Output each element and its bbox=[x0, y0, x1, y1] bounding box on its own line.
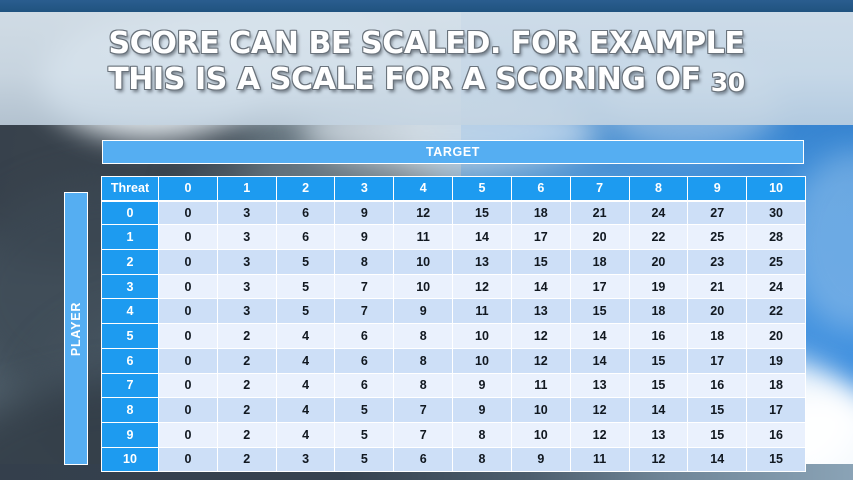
cell-r1-c8: 22 bbox=[630, 225, 689, 250]
cell-r2-c5: 13 bbox=[453, 250, 512, 275]
cell-r2-c2: 5 bbox=[277, 250, 336, 275]
table-row: 1036911141720222528 bbox=[101, 225, 806, 250]
column-header-6: 6 bbox=[512, 176, 571, 201]
slide-canvas: SCORE CAN BE SCALED. FOR EXAMPLE THIS IS… bbox=[0, 0, 853, 480]
row-header-5: 5 bbox=[101, 324, 159, 349]
cell-r3-c10: 24 bbox=[747, 275, 806, 300]
column-header-9: 9 bbox=[688, 176, 747, 201]
cell-r7-c7: 13 bbox=[571, 374, 630, 399]
player-axis-label: PLAYER bbox=[69, 301, 83, 355]
cell-r1-c9: 25 bbox=[688, 225, 747, 250]
cell-r4-c6: 13 bbox=[512, 299, 571, 324]
cell-r9-c10: 16 bbox=[747, 423, 806, 448]
cell-r10-c3: 5 bbox=[335, 448, 394, 473]
table-row: 70246891113151618 bbox=[101, 374, 806, 399]
cell-r5-c2: 4 bbox=[277, 324, 336, 349]
score-matrix: Threat 0 1 2 3 4 5 6 7 8 9 10 0036912151… bbox=[101, 176, 806, 472]
title-line-1: SCORE CAN BE SCALED. FOR EXAMPLE bbox=[0, 26, 853, 62]
cell-r10-c0: 0 bbox=[159, 448, 218, 473]
cell-r3-c1: 3 bbox=[218, 275, 277, 300]
cell-r9-c7: 12 bbox=[571, 423, 630, 448]
top-accent-band bbox=[0, 0, 853, 12]
cell-r4-c1: 3 bbox=[218, 299, 277, 324]
column-header-1: 1 bbox=[218, 176, 277, 201]
table-row: 2035810131518202325 bbox=[101, 250, 806, 275]
cell-r9-c9: 15 bbox=[688, 423, 747, 448]
cell-r3-c3: 7 bbox=[335, 275, 394, 300]
table-head: Threat 0 1 2 3 4 5 6 7 8 9 10 bbox=[101, 176, 806, 201]
cell-r8-c2: 4 bbox=[277, 398, 336, 423]
cell-r4-c4: 9 bbox=[394, 299, 453, 324]
column-header-2: 2 bbox=[277, 176, 336, 201]
cell-r7-c5: 9 bbox=[453, 374, 512, 399]
cell-r5-c5: 10 bbox=[453, 324, 512, 349]
cell-r8-c0: 0 bbox=[159, 398, 218, 423]
cell-r0-c9: 27 bbox=[688, 201, 747, 226]
row-header-1: 1 bbox=[101, 225, 159, 250]
cell-r8-c1: 2 bbox=[218, 398, 277, 423]
cell-r4-c2: 5 bbox=[277, 299, 336, 324]
cell-r4-c3: 7 bbox=[335, 299, 394, 324]
cell-r4-c0: 0 bbox=[159, 299, 218, 324]
cell-r0-c2: 6 bbox=[277, 201, 336, 226]
cell-r0-c10: 30 bbox=[747, 201, 806, 226]
cell-r0-c7: 21 bbox=[571, 201, 630, 226]
table-row: 80245791012141517 bbox=[101, 398, 806, 423]
cell-r2-c7: 18 bbox=[571, 250, 630, 275]
target-axis-bar: TARGET bbox=[102, 140, 804, 164]
cell-r6-c8: 15 bbox=[630, 349, 689, 374]
cell-r1-c7: 20 bbox=[571, 225, 630, 250]
cell-r6-c6: 12 bbox=[512, 349, 571, 374]
cell-r7-c3: 6 bbox=[335, 374, 394, 399]
cell-r10-c8: 12 bbox=[630, 448, 689, 473]
cell-r6-c0: 0 bbox=[159, 349, 218, 374]
row-header-4: 4 bbox=[101, 299, 159, 324]
title-scoring-value: 30 bbox=[711, 68, 745, 97]
table-header-row: Threat 0 1 2 3 4 5 6 7 8 9 10 bbox=[101, 176, 806, 201]
player-axis-bar: PLAYER bbox=[64, 192, 88, 465]
row-header-9: 9 bbox=[101, 423, 159, 448]
cell-r2-c4: 10 bbox=[394, 250, 453, 275]
column-header-3: 3 bbox=[335, 176, 394, 201]
cell-r2-c1: 3 bbox=[218, 250, 277, 275]
cell-r8-c3: 5 bbox=[335, 398, 394, 423]
cell-r9-c8: 13 bbox=[630, 423, 689, 448]
row-header-6: 6 bbox=[101, 349, 159, 374]
table-body: 0036912151821242730103691114172022252820… bbox=[101, 201, 806, 473]
cell-r6-c7: 14 bbox=[571, 349, 630, 374]
cell-r7-c4: 8 bbox=[394, 374, 453, 399]
cell-r9-c3: 5 bbox=[335, 423, 394, 448]
cell-r5-c8: 16 bbox=[630, 324, 689, 349]
column-header-0: 0 bbox=[159, 176, 218, 201]
cell-r8-c10: 17 bbox=[747, 398, 806, 423]
cell-r10-c9: 14 bbox=[688, 448, 747, 473]
cell-r4-c8: 18 bbox=[630, 299, 689, 324]
cell-r3-c4: 10 bbox=[394, 275, 453, 300]
cell-r3-c9: 21 bbox=[688, 275, 747, 300]
cell-r3-c5: 12 bbox=[453, 275, 512, 300]
cell-r10-c7: 11 bbox=[571, 448, 630, 473]
cell-r1-c10: 28 bbox=[747, 225, 806, 250]
cell-r9-c6: 10 bbox=[512, 423, 571, 448]
cell-r8-c8: 14 bbox=[630, 398, 689, 423]
cell-r5-c0: 0 bbox=[159, 324, 218, 349]
cell-r8-c7: 12 bbox=[571, 398, 630, 423]
cell-r6-c10: 19 bbox=[747, 349, 806, 374]
threat-corner-header: Threat bbox=[101, 176, 159, 201]
cell-r2-c9: 23 bbox=[688, 250, 747, 275]
table-row: 0036912151821242730 bbox=[101, 201, 806, 226]
cell-r3-c6: 14 bbox=[512, 275, 571, 300]
cell-r6-c1: 2 bbox=[218, 349, 277, 374]
column-header-5: 5 bbox=[453, 176, 512, 201]
cell-r7-c6: 11 bbox=[512, 374, 571, 399]
cell-r5-c7: 14 bbox=[571, 324, 630, 349]
cell-r5-c3: 6 bbox=[335, 324, 394, 349]
cell-r0-c4: 12 bbox=[394, 201, 453, 226]
cell-r10-c6: 9 bbox=[512, 448, 571, 473]
cell-r3-c7: 17 bbox=[571, 275, 630, 300]
cell-r0-c0: 0 bbox=[159, 201, 218, 226]
cell-r1-c5: 14 bbox=[453, 225, 512, 250]
cell-r0-c8: 24 bbox=[630, 201, 689, 226]
column-header-4: 4 bbox=[394, 176, 453, 201]
cell-r10-c1: 2 bbox=[218, 448, 277, 473]
cell-r7-c9: 16 bbox=[688, 374, 747, 399]
cell-r5-c4: 8 bbox=[394, 324, 453, 349]
cell-r1-c1: 3 bbox=[218, 225, 277, 250]
cell-r1-c3: 9 bbox=[335, 225, 394, 250]
cell-r1-c2: 6 bbox=[277, 225, 336, 250]
column-header-8: 8 bbox=[630, 176, 689, 201]
cell-r2-c8: 20 bbox=[630, 250, 689, 275]
cell-r8-c4: 7 bbox=[394, 398, 453, 423]
cell-r3-c2: 5 bbox=[277, 275, 336, 300]
row-header-7: 7 bbox=[101, 374, 159, 399]
cell-r9-c2: 4 bbox=[277, 423, 336, 448]
cell-r10-c5: 8 bbox=[453, 448, 512, 473]
cell-r5-c9: 18 bbox=[688, 324, 747, 349]
cell-r8-c6: 10 bbox=[512, 398, 571, 423]
cell-r9-c1: 2 bbox=[218, 423, 277, 448]
page-title: SCORE CAN BE SCALED. FOR EXAMPLE THIS IS… bbox=[0, 26, 853, 101]
cell-r6-c4: 8 bbox=[394, 349, 453, 374]
table-row: 10023568911121415 bbox=[101, 448, 806, 473]
cell-r5-c6: 12 bbox=[512, 324, 571, 349]
column-header-10: 10 bbox=[747, 176, 806, 201]
cell-r2-c0: 0 bbox=[159, 250, 218, 275]
cell-r10-c4: 6 bbox=[394, 448, 453, 473]
cell-r1-c0: 0 bbox=[159, 225, 218, 250]
cell-r1-c4: 11 bbox=[394, 225, 453, 250]
cell-r6-c5: 10 bbox=[453, 349, 512, 374]
cell-r9-c0: 0 bbox=[159, 423, 218, 448]
cell-r4-c10: 22 bbox=[747, 299, 806, 324]
cell-r8-c5: 9 bbox=[453, 398, 512, 423]
row-header-2: 2 bbox=[101, 250, 159, 275]
cell-r5-c10: 20 bbox=[747, 324, 806, 349]
cell-r6-c2: 4 bbox=[277, 349, 336, 374]
cell-r3-c0: 0 bbox=[159, 275, 218, 300]
row-header-8: 8 bbox=[101, 398, 159, 423]
cell-r9-c4: 7 bbox=[394, 423, 453, 448]
cell-r10-c2: 3 bbox=[277, 448, 336, 473]
cell-r7-c0: 0 bbox=[159, 374, 218, 399]
cell-r0-c6: 18 bbox=[512, 201, 571, 226]
cell-r4-c5: 11 bbox=[453, 299, 512, 324]
cell-r4-c9: 20 bbox=[688, 299, 747, 324]
table-row: 3035710121417192124 bbox=[101, 275, 806, 300]
column-header-7: 7 bbox=[571, 176, 630, 201]
title-line-2: THIS IS A SCALE FOR A SCORING OF 30 bbox=[0, 62, 853, 101]
cell-r6-c9: 17 bbox=[688, 349, 747, 374]
cell-r1-c6: 17 bbox=[512, 225, 571, 250]
cell-r2-c3: 8 bbox=[335, 250, 394, 275]
cell-r7-c10: 18 bbox=[747, 374, 806, 399]
row-header-0: 0 bbox=[101, 201, 159, 226]
table-row: 502468101214161820 bbox=[101, 324, 806, 349]
cell-r7-c1: 2 bbox=[218, 374, 277, 399]
cell-r7-c2: 4 bbox=[277, 374, 336, 399]
score-matrix-table: Threat 0 1 2 3 4 5 6 7 8 9 10 0036912151… bbox=[101, 176, 806, 472]
cell-r3-c8: 19 bbox=[630, 275, 689, 300]
cell-r2-c6: 15 bbox=[512, 250, 571, 275]
table-row: 602468101214151719 bbox=[101, 349, 806, 374]
cell-r4-c7: 15 bbox=[571, 299, 630, 324]
target-axis-label: TARGET bbox=[426, 145, 480, 159]
cell-r9-c5: 8 bbox=[453, 423, 512, 448]
row-header-3: 3 bbox=[101, 275, 159, 300]
title-line-2-text: THIS IS A SCALE FOR A SCORING OF bbox=[108, 62, 711, 97]
table-row: 90245781012131516 bbox=[101, 423, 806, 448]
cell-r0-c3: 9 bbox=[335, 201, 394, 226]
cell-r0-c1: 3 bbox=[218, 201, 277, 226]
cell-r7-c8: 15 bbox=[630, 374, 689, 399]
cell-r5-c1: 2 bbox=[218, 324, 277, 349]
cell-r6-c3: 6 bbox=[335, 349, 394, 374]
cell-r8-c9: 15 bbox=[688, 398, 747, 423]
cell-r0-c5: 15 bbox=[453, 201, 512, 226]
table-row: 403579111315182022 bbox=[101, 299, 806, 324]
row-header-10: 10 bbox=[101, 448, 159, 473]
cell-r10-c10: 15 bbox=[747, 448, 806, 473]
cell-r2-c10: 25 bbox=[747, 250, 806, 275]
